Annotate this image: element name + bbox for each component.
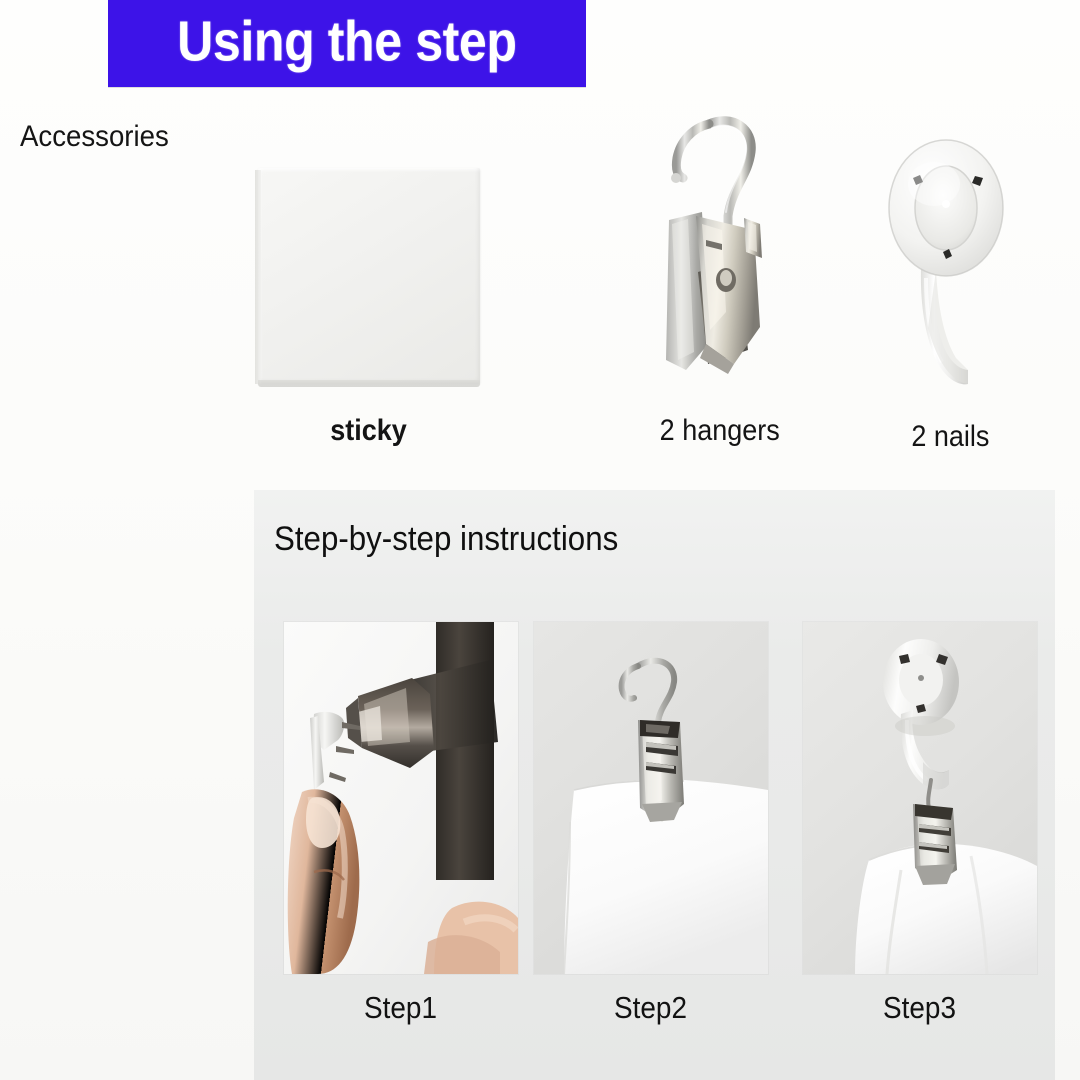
wall-hook-icon [876,138,1021,393]
step-3-cell [803,622,1037,974]
step-2-label: Step2 [534,990,768,1026]
step-1-photo [284,622,518,974]
step-2-cell [534,622,768,974]
steps-row [268,622,1058,974]
instructions-heading: Step-by-step instructions [274,520,648,559]
accessory-caption-sticky: sticky [258,414,480,448]
step-3-label: Step3 [803,990,1037,1026]
accessories-row: sticky [0,0,1080,470]
step-2-photo [534,622,768,974]
accessory-caption-hangers: 2 hangers [620,414,820,448]
step-3-photo [803,622,1037,974]
infographic-page: Using the step Accessories sticky [0,0,1080,1080]
adhesive-square-icon [258,168,480,384]
step-1-label: Step1 [284,990,518,1026]
instructions-panel: Step-by-step instructions [254,490,1055,1080]
accessory-caption-nails: 2 nails [870,420,1030,454]
hook-clip-icon [636,112,806,392]
step-1-cell [284,622,518,974]
